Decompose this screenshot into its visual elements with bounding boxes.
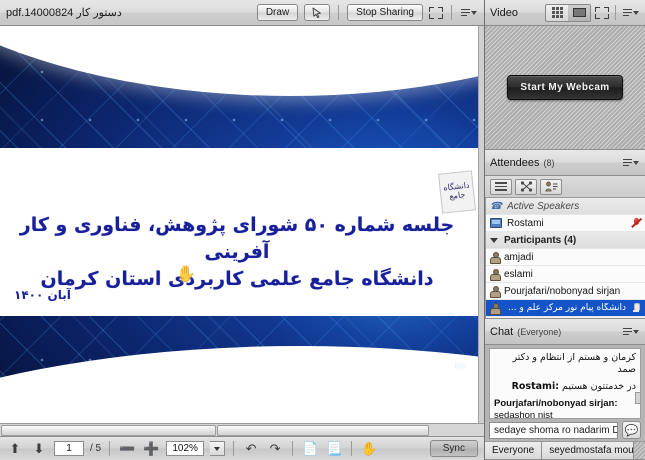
mic-muted-icon[interactable]: [631, 217, 641, 229]
chat-scope-label: (Everyone): [517, 327, 561, 337]
active-speakers-label: Active Speakers: [507, 201, 641, 212]
slide-horizontal-scrollbar[interactable]: [0, 423, 484, 436]
chat-message-text: کرمان و هستم از انتظام و دکتر صمد: [513, 352, 637, 375]
participants-group-label: Participants (4): [504, 235, 641, 246]
list-view-icon[interactable]: [490, 179, 512, 195]
chat-message: Pourjafari/nobonyad sirjan: sedashon nis…: [494, 398, 636, 419]
chat-input-row: sedaye shoma ro nadarim D 💬: [485, 419, 645, 441]
chat-message-text: در خدمتتون هستیم: [562, 381, 636, 392]
scrollbar-thumb-left[interactable]: [1, 425, 216, 436]
video-layout-toggle[interactable]: [545, 4, 591, 22]
video-stage: Start My Webcam: [485, 26, 645, 149]
chat-tab-everyone[interactable]: Everyone: [485, 442, 542, 459]
chat-pod-title: Chat: [490, 326, 513, 338]
chat-input[interactable]: sedaye shoma ro nadarim D: [489, 422, 618, 439]
header-divider-1: [338, 5, 339, 20]
pod-menu-icon[interactable]: [622, 155, 640, 171]
slide-title-line-2: دانشگاه جامع علمی کاربردی استان کرمان: [16, 266, 458, 293]
attendee-row-rostami[interactable]: Rostami: [486, 215, 645, 232]
chat-tab-private[interactable]: seyedmostafa mou...: [542, 442, 634, 459]
header-divider-2: [451, 5, 452, 20]
person-icon: [490, 303, 499, 314]
mic-on-icon[interactable]: [631, 302, 641, 314]
start-my-webcam-button[interactable]: Start My Webcam: [507, 75, 622, 100]
chat-message-sender: Pourjafari/nobonyad sirjan:: [494, 398, 618, 409]
chat-message-list[interactable]: کرمان و هستم از انتظام و دکتر صمد Rostam…: [489, 348, 641, 419]
video-pod-header: Video: [485, 0, 645, 26]
slide-title: جلسه شماره ۵۰ شورای پژوهش، فناوری و کار …: [16, 212, 458, 293]
disclosure-triangle-icon[interactable]: [490, 238, 498, 243]
scrollbar-thumb-right[interactable]: [217, 425, 429, 436]
video-header-divider: [615, 5, 616, 20]
chat-message: Rostami: در خدمتتون هستیم: [494, 381, 636, 393]
toolbar-divider-2: [233, 441, 234, 456]
page-fit-icon[interactable]: 📄: [301, 440, 319, 458]
slide-viewport[interactable]: دانشگاه جامع جلسه شماره ۵۰ شورای پژوهش، …: [0, 26, 484, 436]
attendees-count: (8): [544, 158, 555, 168]
fullscreen-icon[interactable]: [429, 7, 443, 19]
attendees-pod-title: Attendees: [490, 157, 540, 169]
person-icon: [490, 286, 499, 297]
video-pod: Video Start My Webcam: [485, 0, 645, 150]
arrow-up-icon[interactable]: ⬆: [6, 440, 24, 458]
screen-share-icon: [490, 218, 502, 228]
attendee-name: دانشگاه پیام نور مرکز علم و ...: [504, 303, 626, 313]
chat-message: کرمان و هستم از انتظام و دکتر صمد: [494, 352, 636, 376]
toolbar-divider-4: [351, 441, 352, 456]
arrow-down-icon[interactable]: ⬇: [30, 440, 48, 458]
redo-icon[interactable]: ↷: [266, 440, 284, 458]
attendee-row-pourjafari[interactable]: Pourjafari/nobonyad sirjan: [486, 283, 645, 300]
attendee-row-amjadi[interactable]: amjadi: [486, 249, 645, 266]
zoom-level-input[interactable]: 102%: [166, 441, 204, 456]
attendee-options-icon[interactable]: [540, 179, 562, 195]
person-icon: [490, 269, 499, 280]
participants-group-header[interactable]: Participants (4): [486, 232, 645, 249]
phone-icon: ☎: [490, 201, 502, 212]
slide-date: آبان ۱۴۰۰: [14, 288, 71, 302]
share-pod: دستور کار 14000824.pdf Draw Stop Sharing: [0, 0, 485, 460]
slide-watermark: fpp: [454, 361, 466, 370]
attendee-name: amjadi: [504, 252, 641, 263]
pointer-icon[interactable]: [304, 4, 330, 21]
active-speakers-header: ☎ Active Speakers: [486, 198, 645, 215]
undo-icon[interactable]: ↶: [242, 440, 260, 458]
right-pod-column: Video Start My Webcam: [485, 0, 645, 460]
slide-title-line-1: جلسه شماره ۵۰ شورای پژوهش، فناوری و کار …: [16, 212, 458, 266]
page-total-label: / 5: [90, 443, 101, 454]
chevron-down-icon[interactable]: [210, 441, 225, 456]
share-pod-header: دستور کار 14000824.pdf Draw Stop Sharing: [0, 0, 484, 26]
toolbar-divider-1: [109, 441, 110, 456]
chat-bubble-icon[interactable]: 💬: [622, 421, 641, 439]
hand-cursor-icon: ✋: [176, 264, 196, 284]
breakout-rooms-icon[interactable]: [515, 179, 537, 195]
chat-pod: Chat (Everyone) کرمان و هستم از انتظام و…: [485, 319, 645, 460]
chat-pod-header: Chat (Everyone): [485, 319, 645, 345]
pod-menu-icon[interactable]: [622, 324, 640, 340]
single-view-icon[interactable]: [568, 5, 590, 21]
attendee-name: Pourjafari/nobonyad sirjan: [504, 286, 641, 297]
grid-view-icon[interactable]: [546, 5, 568, 21]
video-pod-title: Video: [490, 7, 518, 19]
draw-button[interactable]: Draw: [257, 4, 298, 21]
chat-message-text: sedashon nist: [494, 410, 553, 420]
pod-menu-icon[interactable]: [460, 5, 478, 21]
attendees-list[interactable]: ☎ Active Speakers Rostami Participants (…: [485, 198, 645, 318]
chat-tabs: Everyone seyedmostafa mou...: [485, 441, 645, 459]
slide-vertical-scrollbar[interactable]: [478, 26, 484, 436]
attendee-name: Rostami: [507, 218, 626, 229]
person-icon: [490, 252, 499, 263]
toolbar-divider-3: [292, 441, 293, 456]
pdf-slide: دانشگاه جامع جلسه شماره ۵۰ شورای پژوهش، …: [0, 26, 484, 436]
hand-pan-icon[interactable]: ✋: [360, 440, 378, 458]
attendee-row-eslami[interactable]: eslami: [486, 266, 645, 283]
chat-scrollbar[interactable]: [635, 392, 641, 404]
stop-sharing-button[interactable]: Stop Sharing: [347, 4, 423, 21]
shared-document-title: دستور کار 14000824.pdf: [6, 6, 122, 19]
attendees-toolbar: [485, 176, 645, 198]
pdf-toolbar: ⬆ ⬇ 1 / 5 ➖ ➕ 102% ↶ ↷ 📄 📃 ✋ Sync: [0, 436, 484, 460]
minus-icon[interactable]: ➖: [118, 440, 136, 458]
plus-icon[interactable]: ➕: [142, 440, 160, 458]
university-logo: دانشگاه جامع: [438, 170, 476, 213]
attendee-row-selected[interactable]: دانشگاه پیام نور مرکز علم و ...: [486, 300, 645, 317]
sync-button[interactable]: Sync: [430, 440, 478, 457]
page-number-input[interactable]: 1: [54, 441, 84, 456]
attendee-name: eslami: [504, 269, 641, 280]
attendees-pod: Attendees (8): [485, 150, 645, 319]
chat-message-sender: Rostami:: [512, 381, 559, 392]
adobe-connect-meeting-window: دستور کار 14000824.pdf Draw Stop Sharing: [0, 0, 645, 460]
fullscreen-icon[interactable]: [595, 7, 609, 19]
pod-menu-icon[interactable]: [622, 5, 640, 21]
attendees-pod-header: Attendees (8): [485, 150, 645, 176]
page-width-icon[interactable]: 📃: [325, 440, 343, 458]
